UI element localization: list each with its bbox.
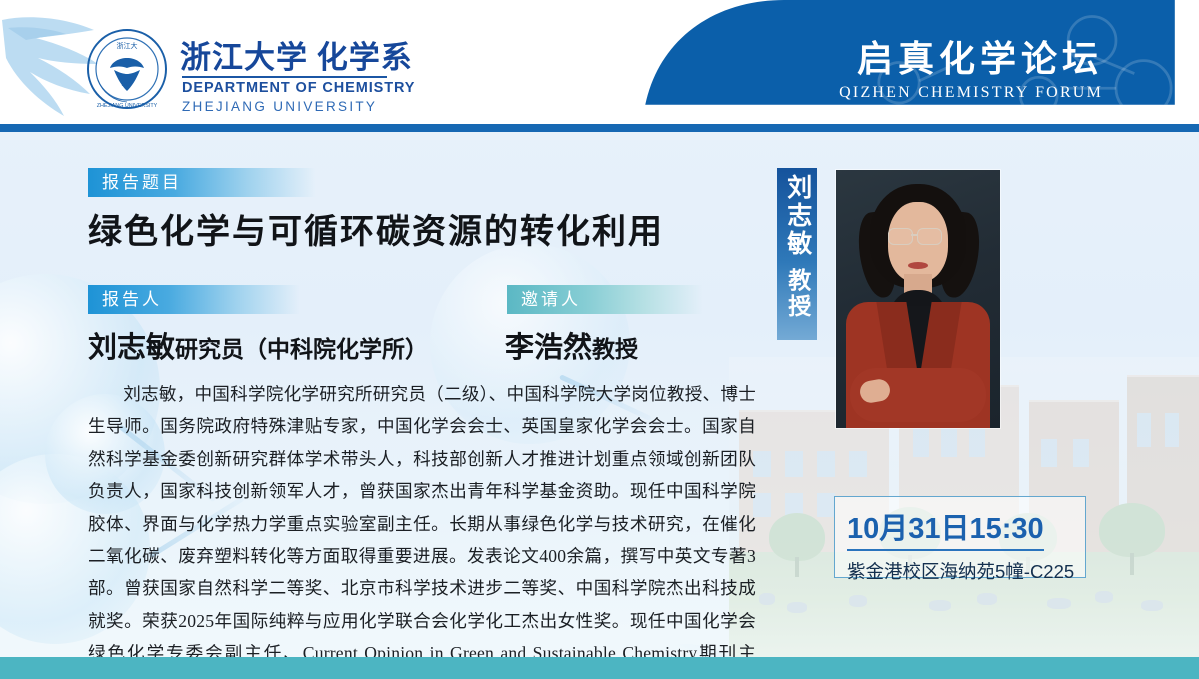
university-name-en: ZHEJIANG UNIVERSITY <box>182 99 377 114</box>
zhejiang-university-seal-icon: 1897 浙江大 ZHEJIANG UNIVERSITY <box>86 28 168 110</box>
vertical-role-text: 教授 <box>785 268 808 320</box>
event-datetime: 10月31日15:30 <box>847 505 1044 551</box>
department-name-cn: 浙江大学 化学系 <box>180 32 413 77</box>
inviter-line: 李浩然教授 <box>505 324 638 366</box>
header-bottom-rule <box>0 124 1199 132</box>
label-talk-title: 报告题目 <box>88 168 316 197</box>
poster-header: 1897 浙江大 ZHEJIANG UNIVERSITY 浙江大学 化学系 DE… <box>0 0 1199 124</box>
speaker-name-vertical-strip: 刘志敏 教授 <box>777 168 817 340</box>
vertical-name-text: 刘志敏 <box>784 174 810 258</box>
svg-text:1897: 1897 <box>121 82 133 88</box>
inviter-name: 李浩然 <box>505 332 592 364</box>
forum-title-en: QIZHEN CHEMISTRY FORUM <box>839 84 1103 102</box>
speaker-affiliation: 研究员（中科院化学所） <box>175 337 428 362</box>
talk-title-text: 绿色化学与可循环碳资源的转化利用 <box>88 204 664 253</box>
seminar-poster: 1897 浙江大 ZHEJIANG UNIVERSITY 浙江大学 化学系 DE… <box>0 0 1199 679</box>
department-name-en: DEPARTMENT OF CHEMISTRY <box>182 80 415 96</box>
inviter-title: 教授 <box>592 337 638 362</box>
speaker-line: 刘志敏研究员（中科院化学所） <box>88 324 428 366</box>
label-speaker: 报告人 <box>88 285 300 314</box>
event-venue: 紫金港校区海纳苑5幢-C225 <box>847 558 1073 584</box>
department-divider <box>182 76 387 78</box>
svg-text:浙江大: 浙江大 <box>117 41 138 50</box>
forum-title-cn: 启真化学论坛 <box>857 30 1103 82</box>
event-datetime-venue-box: 10月31日15:30 紫金港校区海纳苑5幢-C225 <box>834 496 1086 578</box>
bottom-accent-bar <box>0 657 1199 679</box>
label-inviter: 邀请人 <box>507 285 703 314</box>
svg-text:ZHEJIANG UNIVERSITY: ZHEJIANG UNIVERSITY <box>97 103 158 109</box>
speaker-portrait-photo <box>836 170 1000 428</box>
speaker-name: 刘志敏 <box>88 332 175 364</box>
speaker-biography: 刘志敏，中国科学院化学研究所研究员（二级）、中国科学院大学岗位教授、博士生导师。… <box>88 378 756 679</box>
